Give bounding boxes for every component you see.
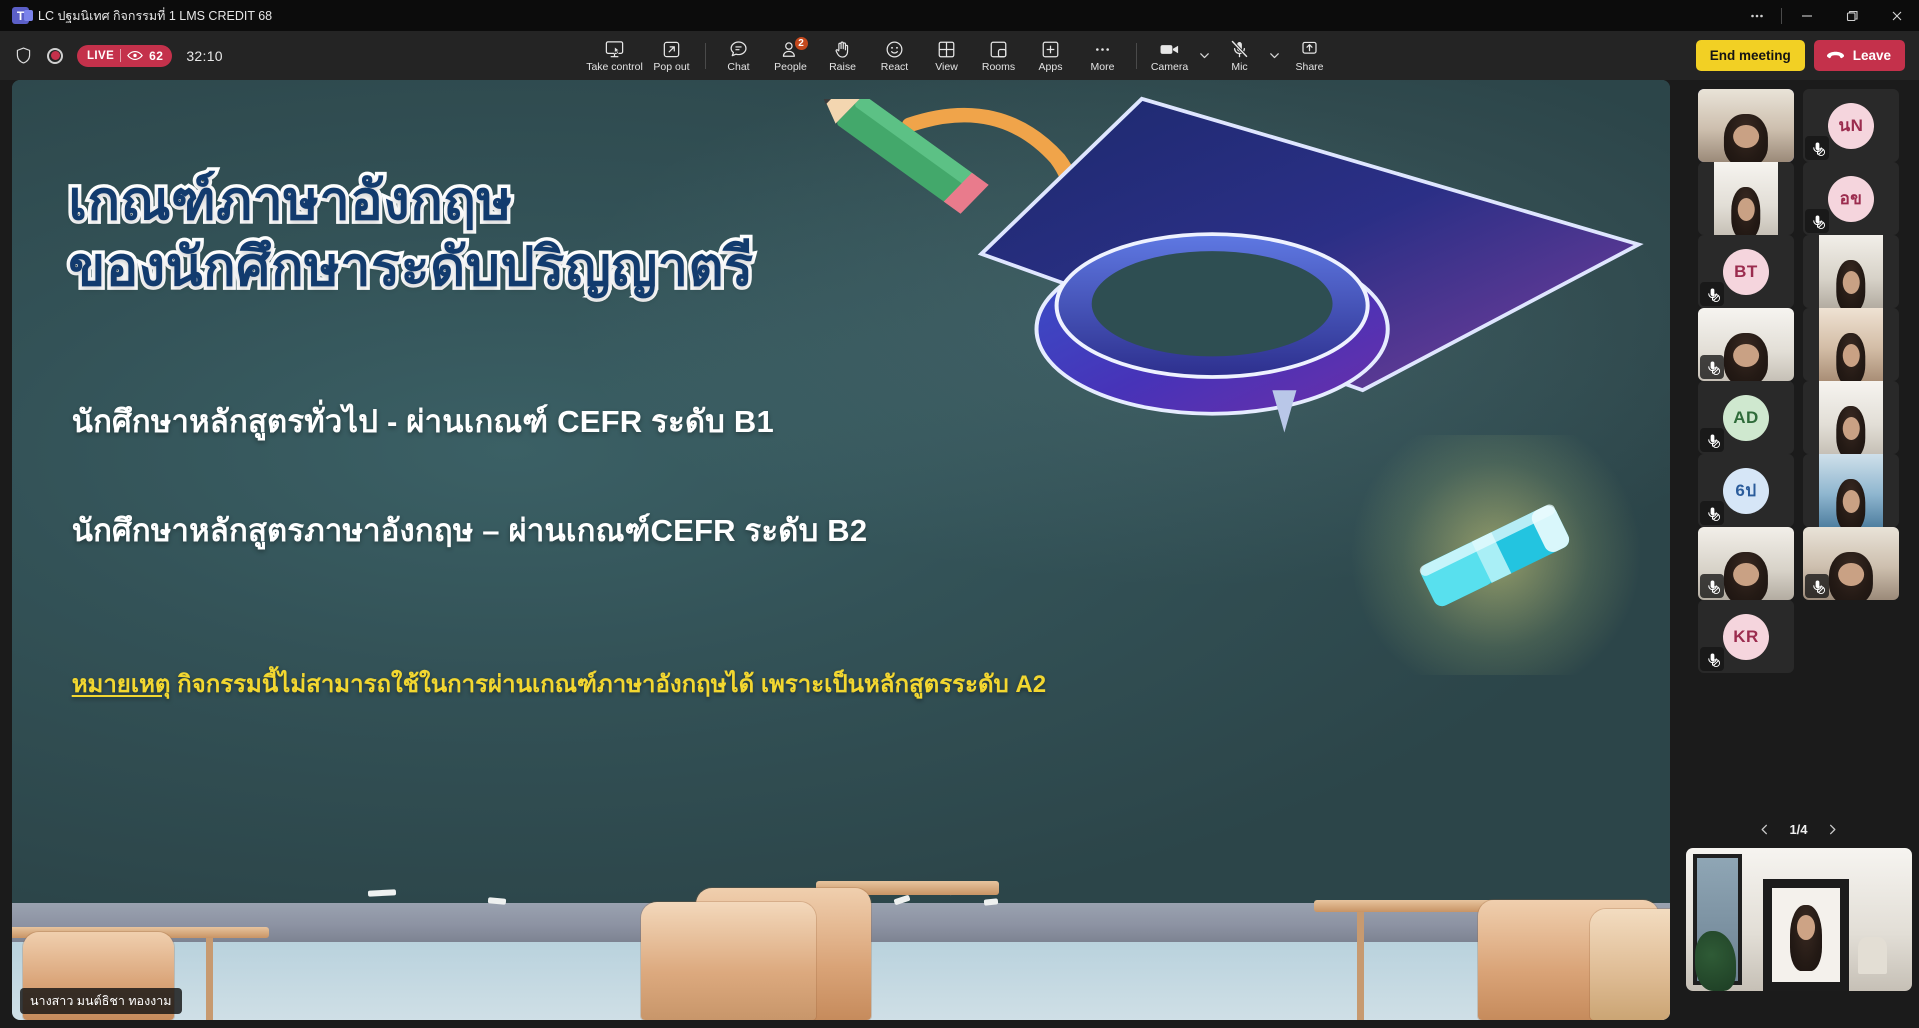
mic-muted-icon <box>1700 501 1724 525</box>
mic-muted-icon <box>1700 574 1724 598</box>
participant-tile[interactable]: 6ป <box>1698 454 1794 527</box>
participant-head <box>1836 333 1865 381</box>
chevron-right-icon[interactable] <box>1822 818 1844 840</box>
mic-muted-icon <box>1805 574 1829 598</box>
teams-meeting-window: LC ปฐมนิเทศ กิจกรรมที่ 1 LMS CREDIT 68 <box>0 0 1919 1028</box>
minimize-button[interactable] <box>1784 0 1829 31</box>
self-view-tile[interactable] <box>1686 848 1912 991</box>
participant-tile[interactable]: นN <box>1803 89 1899 162</box>
more-label: More <box>1091 62 1115 73</box>
react-smiley-icon <box>884 39 905 60</box>
mic-muted-icon <box>1700 428 1724 452</box>
live-badge: LIVE 62 <box>77 45 172 67</box>
chalk-pieces-icon <box>488 897 506 905</box>
mic-muted-icon <box>1805 209 1829 233</box>
window-title: LC ปฐมนิเทศ กิจกรรมที่ 1 LMS CREDIT 68 <box>38 6 272 26</box>
participant-tile[interactable] <box>1803 527 1899 600</box>
leave-button[interactable]: Leave <box>1814 40 1905 71</box>
mic-label: Mic <box>1231 62 1247 73</box>
slide-note-keyword: หมายเหตุ <box>72 671 171 698</box>
shield-icon[interactable] <box>14 46 33 65</box>
take-control-icon <box>604 39 625 60</box>
avatar: 6ป <box>1723 468 1769 514</box>
title-bar: LC ปฐมนิเทศ กิจกรรมที่ 1 LMS CREDIT 68 <box>0 0 1919 31</box>
toolbar-separator-1 <box>705 43 706 69</box>
participant-head <box>1836 406 1865 454</box>
live-divider <box>120 49 121 62</box>
raise-hand-button[interactable]: Raise <box>817 33 869 79</box>
viewer-eye-icon <box>127 50 143 61</box>
participant-head <box>1724 333 1768 381</box>
people-button[interactable]: 2 People <box>765 33 817 79</box>
classroom-desks-icon <box>609 851 1007 1020</box>
participant-tile[interactable] <box>1698 162 1794 235</box>
slide-title: เกณฑ์ภาษาอังกฤษ ของนักศึกษาระดับปริญญาตร… <box>68 169 1096 301</box>
react-button[interactable]: React <box>869 33 921 79</box>
participant-video <box>1819 235 1883 308</box>
presentation-slide: เกณฑ์ภาษาอังกฤษ ของนักศึกษาระดับปริญญาตร… <box>12 80 1670 1020</box>
view-label: View <box>935 62 958 73</box>
apps-button[interactable]: Apps <box>1025 33 1077 79</box>
participant-head <box>1836 479 1865 527</box>
roster-page-label: 1/4 <box>1789 822 1807 837</box>
leave-label: Leave <box>1853 48 1891 63</box>
end-meeting-button[interactable]: End meeting <box>1696 40 1805 71</box>
apps-label: Apps <box>1039 62 1063 73</box>
participant-tile[interactable] <box>1698 527 1794 600</box>
rooms-button[interactable]: Rooms <box>973 33 1025 79</box>
apps-plus-icon <box>1040 39 1061 60</box>
record-indicator-icon <box>47 48 63 64</box>
camera-label: Camera <box>1151 62 1188 73</box>
eraser-icon <box>1396 484 1595 625</box>
participant-tile[interactable] <box>1803 235 1899 308</box>
roster-pagination: 1/4 <box>1678 818 1919 840</box>
avatar: นN <box>1828 103 1874 149</box>
mic-button[interactable]: Mic <box>1214 33 1266 79</box>
participant-head <box>1731 187 1760 235</box>
slide-note-text: กิจกรรมนี้ไม่สามารถใช้ในการผ่านเกณฑ์ภาษา… <box>170 671 1046 698</box>
camera-chevron-down-icon[interactable] <box>1196 33 1214 79</box>
participant-tile[interactable]: KR <box>1698 600 1794 673</box>
close-button[interactable] <box>1874 0 1919 31</box>
mic-muted-icon <box>1700 355 1724 379</box>
chat-label: Chat <box>727 62 749 73</box>
toolbar-call-actions: End meeting Leave <box>1696 40 1919 71</box>
share-up-arrow-icon <box>1299 39 1320 60</box>
restore-button[interactable] <box>1829 0 1874 31</box>
teams-logo-icon <box>12 7 29 24</box>
meeting-toolbar: LIVE 62 32:10 Take control Pop ou <box>0 31 1919 80</box>
viewer-count: 62 <box>149 49 163 63</box>
rooms-label: Rooms <box>982 62 1015 73</box>
chat-icon <box>728 39 749 60</box>
mic-muted-icon <box>1229 39 1250 60</box>
meeting-timer: 32:10 <box>186 48 223 64</box>
react-label: React <box>881 62 908 73</box>
participant-tile[interactable]: AD <box>1698 381 1794 454</box>
participant-rail: นN อข BT AD 6ป <box>1678 80 1919 1028</box>
mic-muted-icon <box>1805 136 1829 160</box>
toolbar-separator-2 <box>1136 43 1137 69</box>
participant-video <box>1714 162 1778 235</box>
take-control-label: Take control <box>586 62 643 73</box>
shared-content-stage[interactable]: เกณฑ์ภาษาอังกฤษ ของนักศึกษาระดับปริญญาตร… <box>12 80 1670 1020</box>
avatar: อข <box>1828 176 1874 222</box>
participant-tile[interactable]: BT <box>1698 235 1794 308</box>
participant-tile[interactable] <box>1698 89 1794 162</box>
share-button[interactable]: Share <box>1284 33 1336 79</box>
slide-title-line-1: เกณฑ์ภาษาอังกฤษ <box>68 169 1096 235</box>
participant-tile[interactable] <box>1698 308 1794 381</box>
pop-out-button[interactable]: Pop out <box>646 33 698 79</box>
camera-icon <box>1158 39 1181 60</box>
title-bar-left: LC ปฐมนิเทศ กิจกรรมที่ 1 LMS CREDIT 68 <box>0 6 272 26</box>
pop-out-icon <box>661 39 682 60</box>
slide-body-line-1: นักศึกษาหลักสูตรทั่วไป - ผ่านเกณฑ์ CEFR … <box>72 396 774 446</box>
mic-muted-icon <box>1700 282 1724 306</box>
raise-hand-icon <box>832 39 853 60</box>
participant-video <box>1819 308 1883 381</box>
live-label: LIVE <box>87 50 114 62</box>
hangup-phone-icon <box>1826 48 1845 63</box>
pop-out-label: Pop out <box>653 62 689 73</box>
participant-head <box>1836 260 1865 308</box>
view-button[interactable]: View <box>921 33 973 79</box>
slide-body-line-2: นักศึกษาหลักสูตรภาษาอังกฤษ – ผ่านเกณฑ์CE… <box>72 505 868 555</box>
avatar: AD <box>1723 395 1769 441</box>
more-button[interactable]: More <box>1077 33 1129 79</box>
share-label: Share <box>1295 62 1323 73</box>
participant-head <box>1829 552 1873 600</box>
slide-title-line-2: ของนักศึกษาระดับปริญญาตรี <box>68 235 1096 301</box>
breakout-rooms-icon <box>988 39 1009 60</box>
self-view-video <box>1686 848 1912 991</box>
participant-head <box>1724 552 1768 600</box>
mic-muted-icon <box>1700 647 1724 671</box>
people-badge: 2 <box>794 36 809 51</box>
view-grid-icon <box>936 39 957 60</box>
mic-chevron-down-icon[interactable] <box>1266 33 1284 79</box>
titlebar-more-button[interactable] <box>1734 0 1779 31</box>
classroom-desks-icon <box>1305 870 1670 1020</box>
more-ellipsis-icon <box>1092 39 1113 60</box>
participant-tile-grid: นN อข BT AD 6ป <box>1678 89 1919 673</box>
participant-tile[interactable] <box>1803 308 1899 381</box>
take-control-button[interactable]: Take control <box>584 33 646 79</box>
chat-button[interactable]: Chat <box>713 33 765 79</box>
participant-tile[interactable] <box>1803 454 1899 527</box>
participant-video <box>1819 454 1883 527</box>
people-label: People <box>774 62 807 73</box>
toolbar-main-controls: Take control Pop out Chat 2 <box>584 33 1336 79</box>
window-controls <box>1734 0 1919 31</box>
titlebar-separator <box>1781 8 1782 24</box>
presenter-name-label: นางสาว มนต์ธิชา ทองงาม <box>20 988 182 1014</box>
chevron-left-icon[interactable] <box>1753 818 1775 840</box>
participant-head <box>1724 114 1768 162</box>
participant-video <box>1819 381 1883 454</box>
avatar: BT <box>1723 249 1769 295</box>
participant-tile[interactable]: อข <box>1803 162 1899 235</box>
slide-note: หมายเหตุ กิจกรรมนี้ไม่สามารถใช้ในการผ่าน… <box>72 664 1046 703</box>
avatar: KR <box>1723 614 1769 660</box>
participant-video <box>1698 89 1794 162</box>
camera-button[interactable]: Camera <box>1144 33 1196 79</box>
raise-hand-label: Raise <box>829 62 856 73</box>
participant-tile[interactable] <box>1803 381 1899 454</box>
toolbar-status-group: LIVE 62 32:10 <box>0 45 223 67</box>
